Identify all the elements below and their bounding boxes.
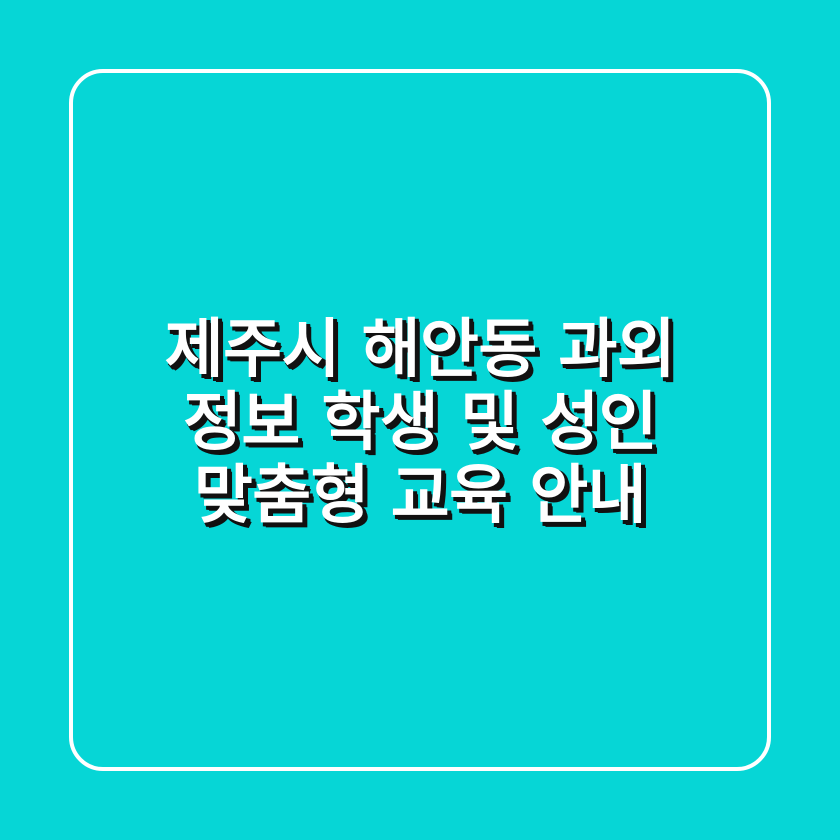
headline-line-3: 맞춤형 교육 안내	[165, 460, 676, 533]
headline-line-2: 정보 학생 및 성인	[165, 387, 676, 460]
headline-block: 제주시 해안동 과외정보 학생 및 성인맞춤형 교육 안내	[70, 314, 770, 533]
poster-canvas: 제주시 해안동 과외정보 학생 및 성인맞춤형 교육 안내	[0, 0, 840, 840]
page-title: 제주시 해안동 과외정보 학생 및 성인맞춤형 교육 안내	[165, 314, 676, 533]
headline-line-1: 제주시 해안동 과외	[165, 314, 676, 387]
